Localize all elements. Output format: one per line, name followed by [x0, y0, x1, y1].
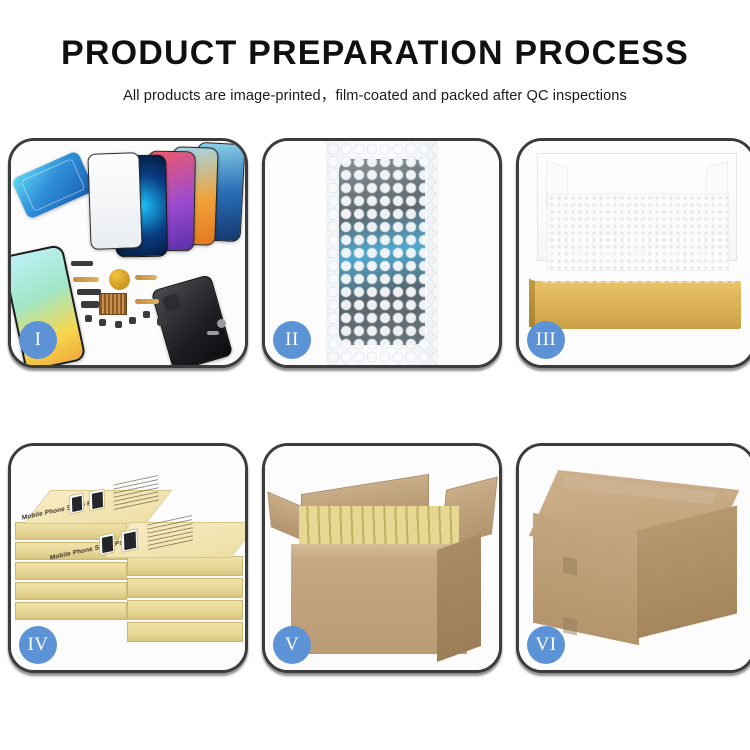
- kraft-box-side: [15, 602, 127, 620]
- connector-part: [77, 289, 101, 295]
- carton-side-face: [437, 534, 481, 662]
- box-printed-screen: [99, 532, 115, 556]
- step-panel-5: V: [262, 443, 502, 673]
- tempered-glass-protector: [87, 152, 142, 250]
- step-panel-1: I: [8, 138, 248, 368]
- kraft-box-tray: [535, 281, 741, 329]
- flex-cable-part: [73, 277, 99, 282]
- box-printed-screen: [121, 528, 138, 553]
- box-printed-screen: [69, 492, 84, 514]
- bracket-part: [81, 301, 99, 308]
- screw-part: [143, 311, 150, 318]
- page-subtitle: All products are image-printed，film-coat…: [0, 84, 750, 105]
- camera-module-part: [157, 317, 167, 326]
- tape-tab-lower: [563, 617, 577, 636]
- kraft-box-side: [127, 622, 243, 642]
- infographic-page: PRODUCT PREPARATION PROCESS All products…: [0, 0, 750, 750]
- screw-part: [217, 319, 226, 328]
- kraft-box-side: [127, 600, 243, 620]
- process-step-grid: I II III: [8, 138, 742, 678]
- kraft-box-side: [15, 582, 127, 600]
- step-panel-6: VI: [516, 443, 750, 673]
- bubble-wrap-texture-front: [327, 143, 437, 365]
- kraft-box-side: [127, 556, 243, 576]
- box-printed-screen: [89, 488, 105, 512]
- earpiece-mesh-part: [71, 261, 93, 266]
- step-badge-4: IV: [19, 626, 57, 664]
- screw-part: [85, 315, 92, 322]
- tape-tab-upper: [563, 557, 577, 576]
- screw-part: [99, 319, 106, 326]
- ic-chip-part: [99, 293, 127, 315]
- header: PRODUCT PREPARATION PROCESS All products…: [0, 0, 750, 105]
- speaker-coil-part: [109, 269, 130, 290]
- screw-part: [129, 317, 136, 324]
- step-badge-3: III: [527, 321, 565, 359]
- flex-cable-part: [135, 275, 157, 280]
- flex-cable-part: [135, 299, 159, 304]
- screw-part: [115, 321, 122, 328]
- step-panel-4: Mobile Phone Spare Parts Mobile Phone Sp…: [8, 443, 248, 673]
- step-panel-2: II: [262, 138, 502, 368]
- adhesive-sticker-icon: [11, 150, 95, 219]
- step-badge-5: V: [273, 626, 311, 664]
- step-badge-1: I: [19, 321, 57, 359]
- page-title: PRODUCT PREPARATION PROCESS: [0, 34, 750, 73]
- step-panel-3: III: [516, 138, 750, 368]
- kraft-box-side: [15, 562, 127, 580]
- screwdriver-tool: [207, 331, 219, 335]
- step-badge-2: II: [273, 321, 311, 359]
- step-badge-6: VI: [527, 626, 565, 664]
- kraft-box-side: [127, 578, 243, 598]
